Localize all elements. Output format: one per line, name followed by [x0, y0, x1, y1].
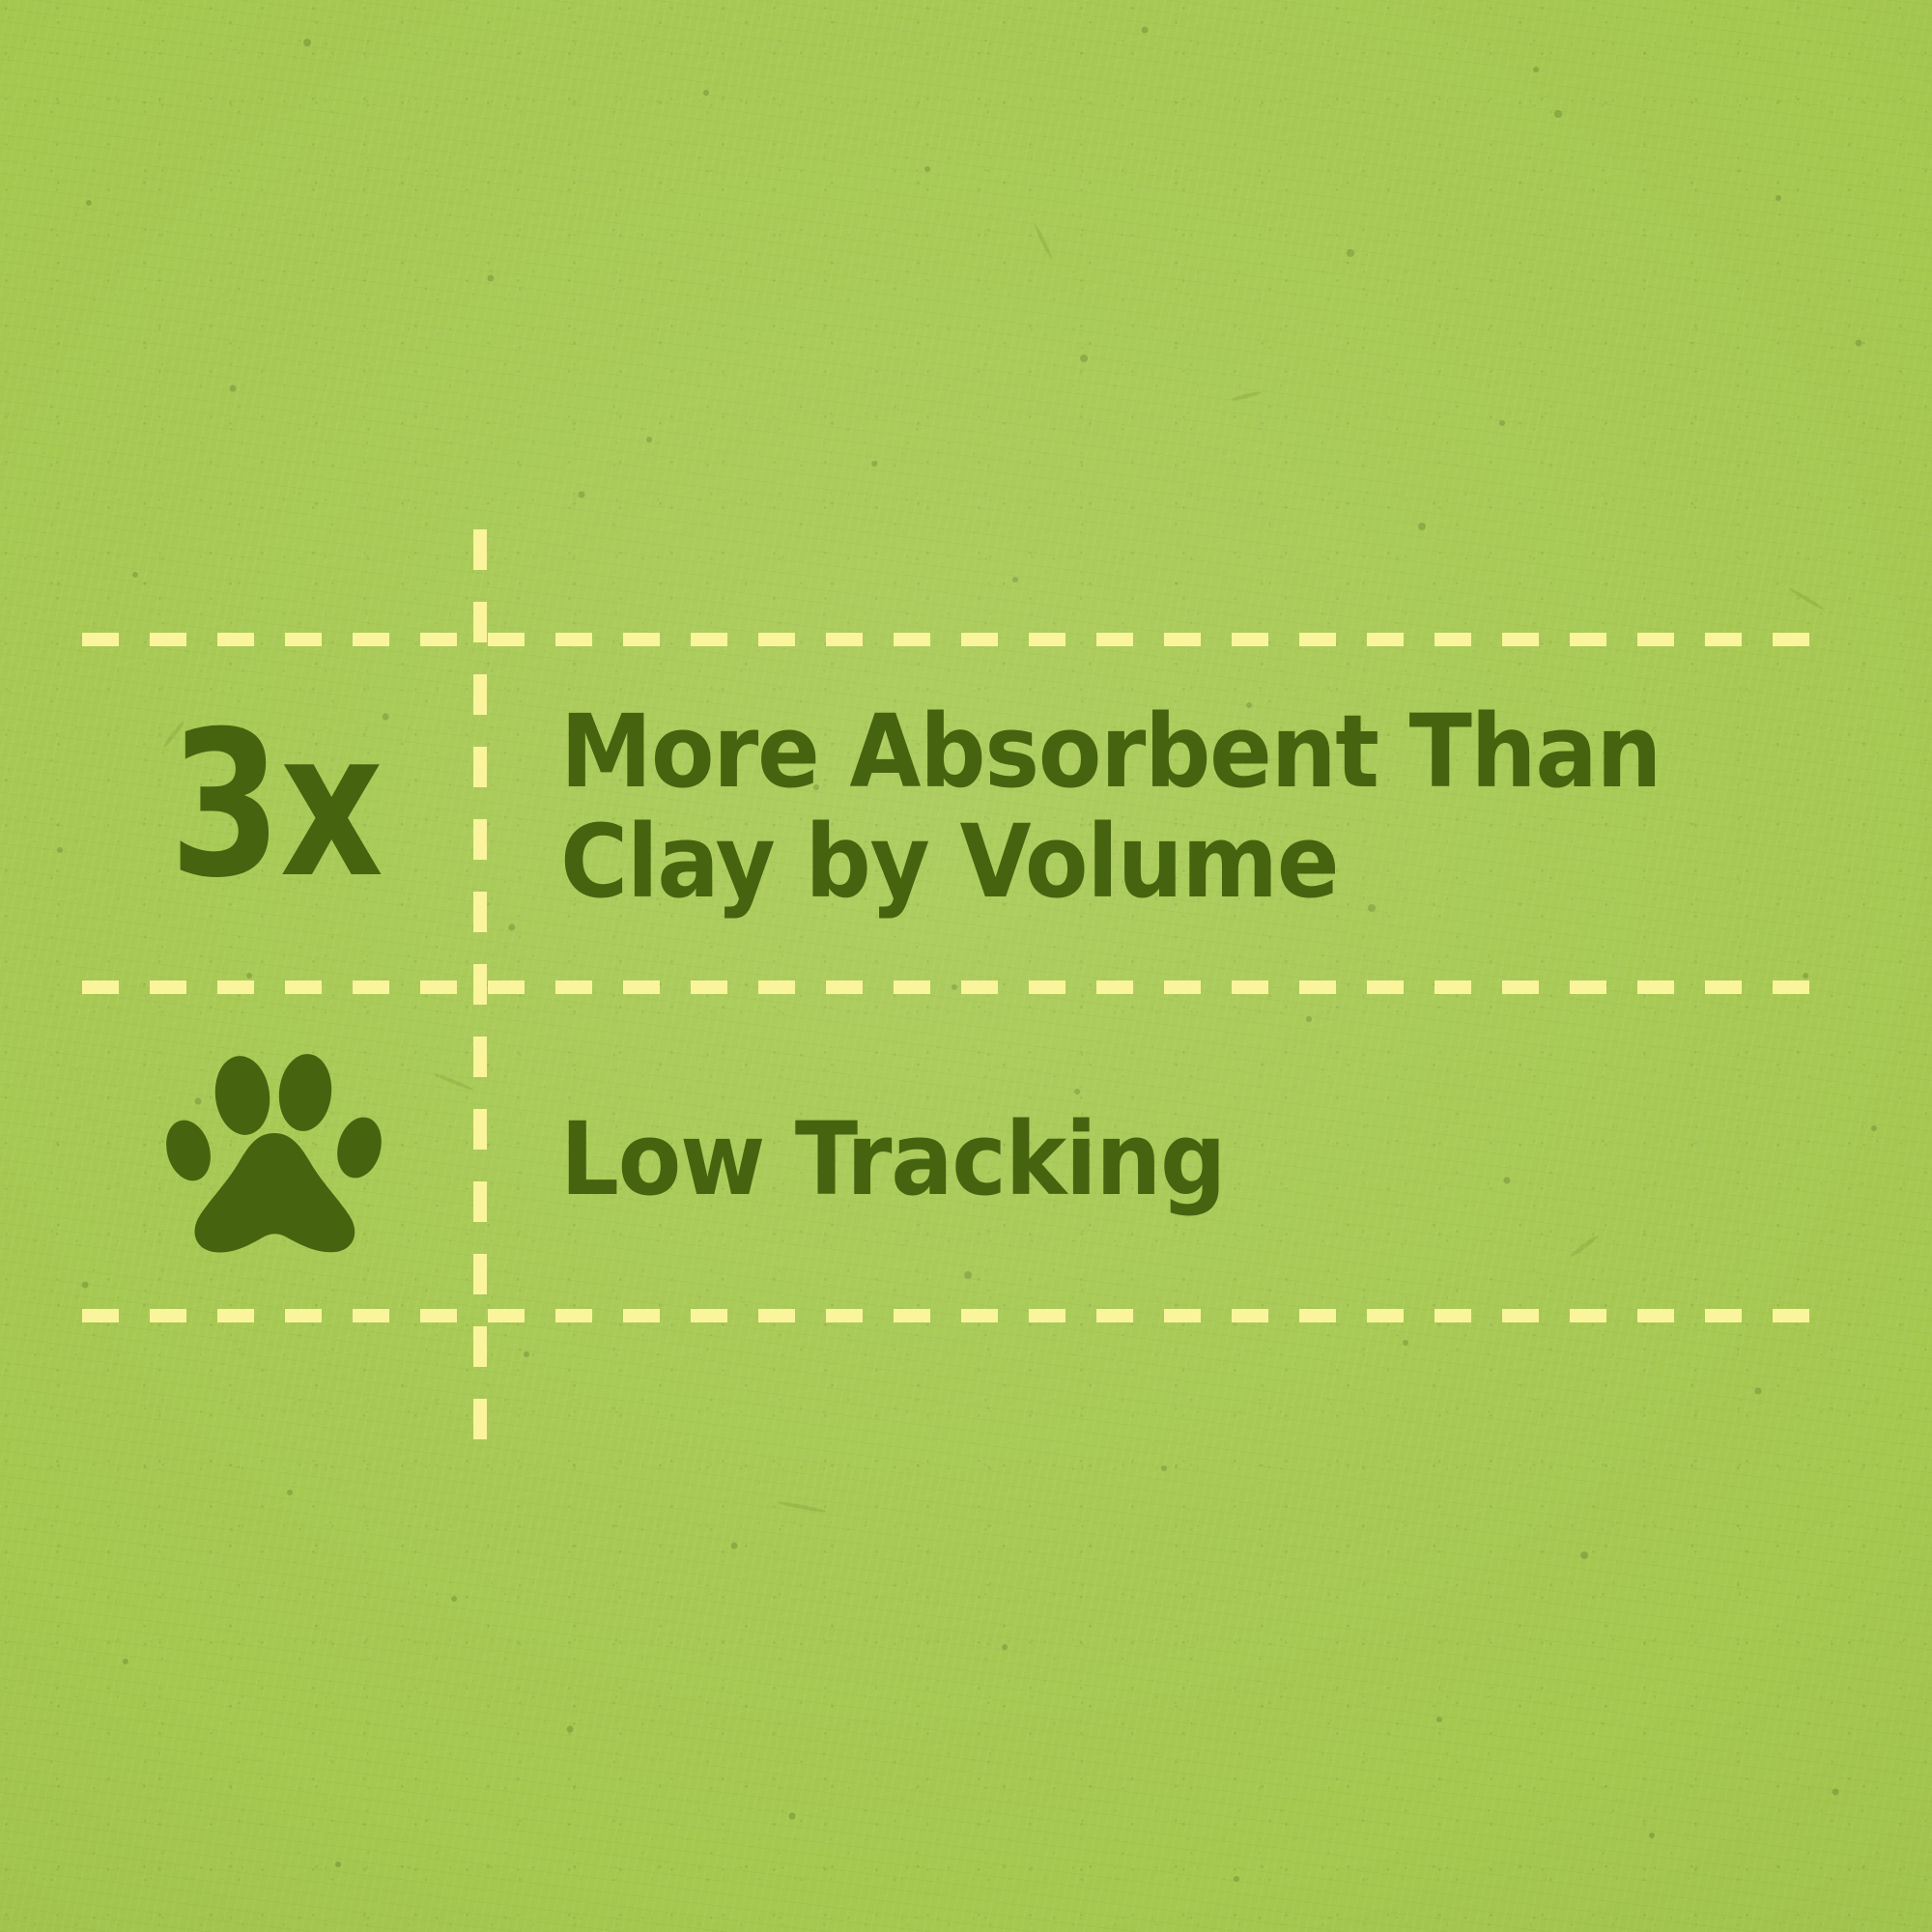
divider-middle [82, 980, 1840, 994]
row-absorbency-icon-cell: 3x [116, 667, 435, 947]
row-tracking-text-cell: Low Tracking [560, 1034, 1855, 1285]
stat-multiplier-3x: 3x [169, 711, 382, 902]
paper-grain-texture [0, 0, 1932, 1932]
benefits-infographic: 3x More Absorbent Than Clay by Volume Lo… [0, 0, 1932, 1932]
divider-bottom [82, 1309, 1840, 1322]
row-tracking-icon-cell [116, 1034, 435, 1285]
paper-speck-texture [0, 0, 1932, 1932]
divider-top [82, 633, 1840, 646]
paw-print-icon [164, 1048, 386, 1270]
benefit-headline-tracking: Low Tracking [560, 1104, 1225, 1214]
divider-vertical-column [473, 529, 487, 1457]
paper-vignette [0, 0, 1932, 1932]
row-absorbency-text-cell: More Absorbent Than Clay by Volume [560, 667, 1855, 947]
paper-fiber-texture [0, 0, 1932, 1932]
benefit-headline-absorbency: More Absorbent Than Clay by Volume [560, 696, 1661, 918]
